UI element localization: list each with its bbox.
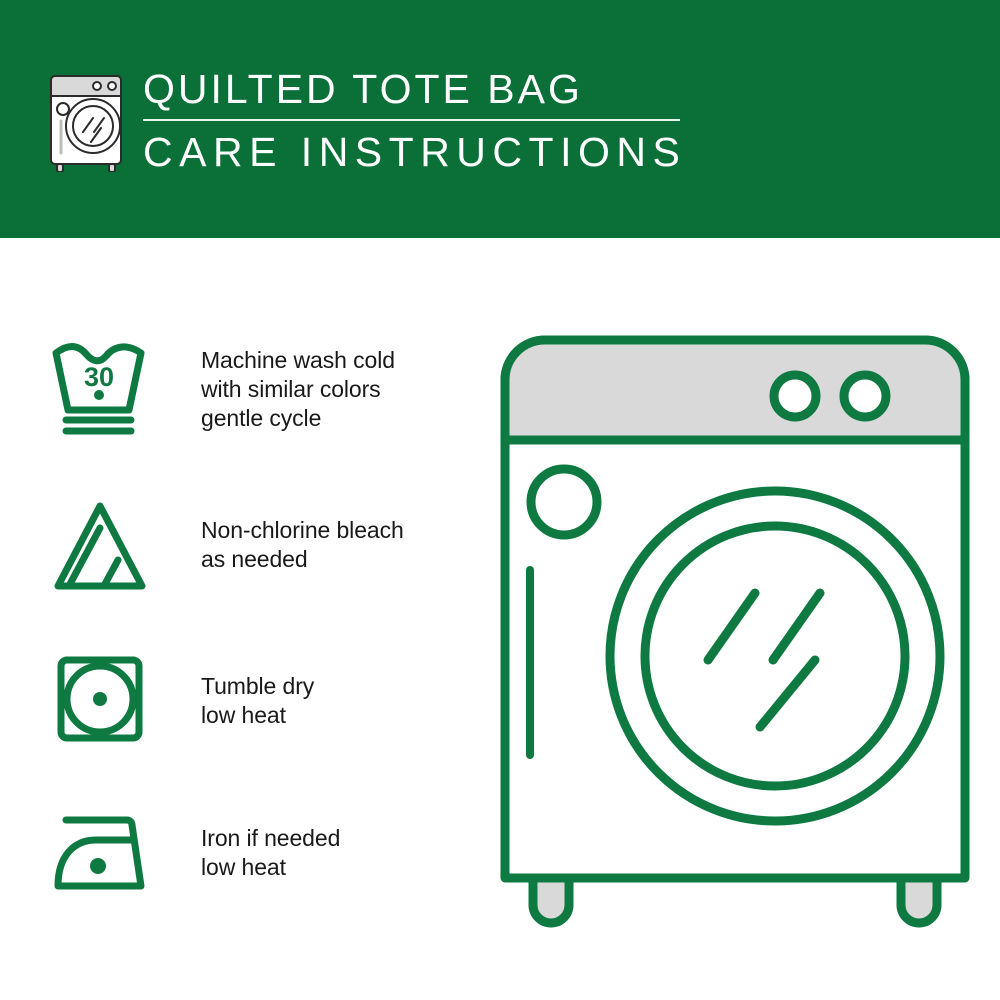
care-instructions-infographic: QUILTED TOTE BAG CARE INSTRUCTIONS 30 — [0, 0, 1000, 1000]
page-subtitle: CARE INSTRUCTIONS — [143, 127, 703, 177]
page-title: QUILTED TOTE BAG — [143, 64, 703, 114]
header-band: QUILTED TOTE BAG CARE INSTRUCTIONS — [0, 0, 1000, 238]
tumble-dry-low-icon — [48, 652, 158, 750]
care-instruction-row: Tumble dry low heat — [48, 652, 468, 750]
care-instruction-label: Machine wash cold with similar colors ge… — [201, 346, 395, 433]
care-instruction-row: Non-chlorine bleach as needed — [48, 496, 468, 594]
care-instruction-label: Tumble dry low heat — [201, 672, 314, 730]
non-chlorine-bleach-triangle-icon — [48, 496, 158, 594]
care-instruction-row: Iron if needed low heat — [48, 804, 468, 902]
title-divider — [143, 119, 680, 121]
header-text-block: QUILTED TOTE BAG CARE INSTRUCTIONS — [143, 64, 703, 177]
washing-machine-icon — [45, 68, 133, 172]
care-instruction-label: Non-chlorine bleach as needed — [201, 516, 404, 574]
wash-temperature-value: 30 — [84, 362, 114, 392]
care-instruction-label: Iron if needed low heat — [201, 824, 340, 882]
wash-tub-30-gentle-icon: 30 — [48, 340, 158, 438]
iron-low-heat-icon — [48, 804, 158, 902]
care-instruction-list: 30 Machine wash cold with similar colors… — [0, 238, 480, 1000]
care-instruction-row: 30 Machine wash cold with similar colors… — [48, 340, 468, 438]
washing-machine-illustration — [495, 330, 975, 940]
